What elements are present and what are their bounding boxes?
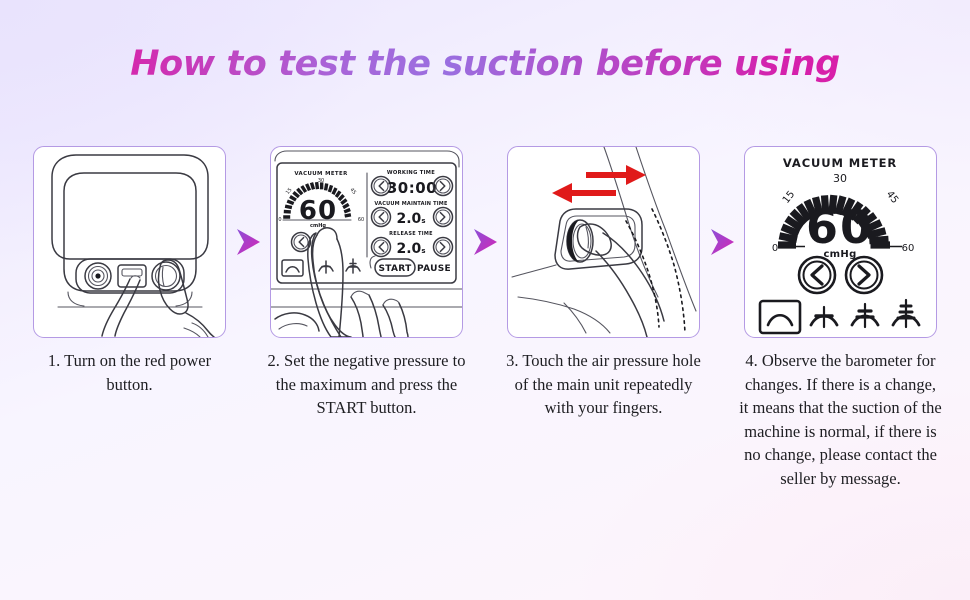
step-4-caption: 4. Observe the barometer for changes. If… [739, 349, 943, 490]
panel-maintain-time-label: VACUUM MAINTAIN TIME [374, 201, 448, 207]
panel-vacuum-value: 60 [299, 196, 337, 226]
panel-tick-0: 0 [278, 217, 281, 223]
panel-working-time-value: 30:00 [387, 179, 437, 197]
panel-tick-45: 45 [348, 187, 357, 196]
closeup-next-button[interactable] [846, 257, 882, 293]
step-3: 3. Touch the air pressure hole of the ma… [506, 146, 701, 420]
closeup-vacuum-unit: cmHg [823, 249, 856, 260]
closeup-tick-0: 0 [772, 243, 778, 254]
step-arrow-1-container [227, 146, 269, 338]
closeup-mode-pulse-1-icon[interactable] [811, 307, 837, 327]
closeup-vacuum-meter-label: VACUUM METER [783, 156, 897, 170]
step-arrow-3-icon [709, 228, 735, 256]
air-pressure-hole-drawing [508, 147, 699, 337]
closeup-tick-15: 15 [781, 189, 798, 206]
step-1-caption: 1. Turn on the red power button. [28, 349, 232, 396]
panel-start-button[interactable]: START [375, 259, 415, 276]
panel-release-time-prev-button[interactable] [372, 238, 391, 257]
panel-maintain-time-next-button[interactable] [434, 208, 453, 227]
panel-mode-wave-icon[interactable] [282, 260, 303, 276]
panel-pause-button[interactable]: PAUSE [417, 264, 451, 274]
panel-maintain-time-prev-button[interactable] [372, 208, 391, 227]
step-2-caption: 2. Set the negative pressure to the maxi… [265, 349, 469, 420]
panel-working-time-next-button[interactable] [434, 177, 453, 196]
closeup-tick-60: 60 [902, 243, 915, 254]
panel-pause-label: PAUSE [417, 264, 451, 274]
step-4: VACUUM METER 30 15 45 0 60 [743, 146, 938, 490]
panel-vacuum-meter-label: VACUUM METER [294, 171, 348, 177]
infographic-root: How to test the suction before using [0, 0, 970, 600]
step-2: VACUUM METER 30 15 45 0 60 [269, 146, 464, 420]
closeup-tick-45: 45 [884, 189, 901, 206]
panel-tick-15: 15 [285, 187, 294, 196]
step-arrow-3-container [701, 146, 743, 338]
step-2-illustration: VACUUM METER 30 15 45 0 60 [270, 146, 463, 338]
control-panel-drawing: VACUUM METER 30 15 45 0 60 [271, 147, 462, 337]
panel-release-time-next-button[interactable] [434, 238, 453, 257]
step-1: 1. Turn on the red power button. [32, 146, 227, 396]
panel-mode-pulse-1-icon[interactable] [319, 261, 333, 273]
device-rear-power-button-drawing [34, 147, 225, 337]
step-1-illustration [33, 146, 226, 338]
step-3-illustration [507, 146, 700, 338]
panel-release-time-label: RELEASE TIME [389, 231, 433, 237]
step-arrow-2-icon [472, 228, 498, 256]
step-3-caption: 3. Touch the air pressure hole of the ma… [502, 349, 706, 420]
panel-mode-pulse-3-icon[interactable] [346, 259, 360, 273]
vacuum-meter-closeup-drawing: VACUUM METER 30 15 45 0 60 [745, 147, 936, 337]
panel-start-label: START [378, 264, 412, 274]
step-4-illustration: VACUUM METER 30 15 45 0 60 [744, 146, 937, 338]
panel-release-time-value: 2.0s [397, 241, 426, 257]
panel-working-time-label: WORKING TIME [387, 170, 435, 176]
closeup-mode-pulse-2-icon[interactable] [852, 304, 878, 327]
closeup-mode-wave-icon[interactable] [760, 301, 800, 333]
red-arrow-left-icon [552, 183, 616, 203]
closeup-mode-pulse-3-icon[interactable] [893, 300, 919, 327]
closeup-vacuum-value: 60 [806, 200, 874, 254]
step-arrow-2-container [464, 146, 506, 338]
step-arrow-1-icon [235, 228, 261, 256]
steps-row: 1. Turn on the red power button. [0, 146, 970, 490]
closeup-prev-button[interactable] [799, 257, 835, 293]
closeup-tick-30: 30 [833, 172, 847, 185]
panel-mode-icons [282, 259, 360, 276]
panel-maintain-time-value: 2.0s [397, 211, 426, 227]
panel-tick-60: 60 [358, 217, 364, 223]
page-title: How to test the suction before using [0, 44, 970, 84]
